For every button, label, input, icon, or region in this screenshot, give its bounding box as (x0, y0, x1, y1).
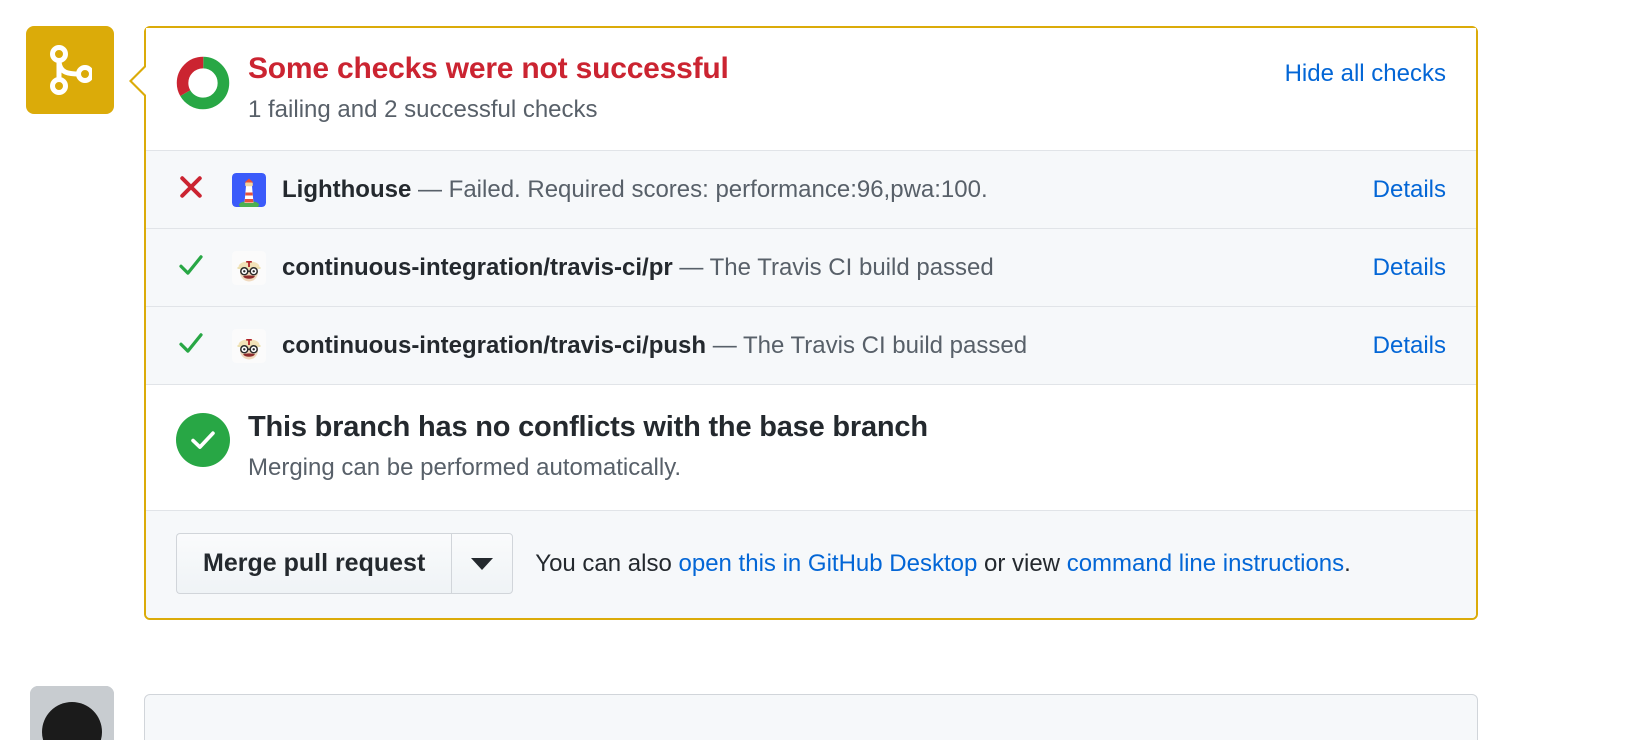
check-state-success (176, 250, 232, 285)
checks-status-text: Some checks were not successful 1 failin… (248, 52, 1265, 124)
check-state-failure (176, 172, 232, 207)
check-details-link[interactable]: Details (1373, 332, 1446, 360)
check-separator: — (706, 332, 743, 359)
check-description: Lighthouse — Failed. Required scores: pe… (282, 175, 1353, 205)
merge-button-group: Merge pull request (176, 533, 513, 594)
conflicts-text: This branch has no conflicts with the ba… (248, 411, 1446, 482)
merge-status-panel: Some checks were not successful 1 failin… (0, 0, 1644, 740)
open-in-github-desktop-link[interactable]: open this in GitHub Desktop (679, 550, 978, 577)
checks-progress-donut-icon (176, 56, 230, 110)
check-summary: Failed. Required scores: performance:96,… (449, 176, 988, 203)
travis-ci-avatar (232, 329, 266, 363)
merge-help-middle: or view (977, 550, 1066, 577)
check-separator: — (673, 254, 710, 281)
check-icon (176, 328, 206, 363)
merge-conflicts-status: This branch has no conflicts with the ba… (146, 385, 1476, 511)
check-name: Lighthouse (282, 176, 411, 203)
x-icon (176, 172, 206, 207)
chevron-down-icon (471, 558, 493, 570)
check-details-link[interactable]: Details (1373, 254, 1446, 282)
check-name: continuous-integration/travis-ci/pr (282, 254, 673, 281)
check-description: continuous-integration/travis-ci/pr — Th… (282, 253, 1353, 283)
merge-box: Some checks were not successful 1 failin… (144, 26, 1478, 620)
check-state-success (176, 328, 232, 363)
command-line-instructions-link[interactable]: command line instructions (1067, 550, 1344, 577)
travis-ci-avatar (232, 251, 266, 285)
lighthouse-avatar (232, 173, 266, 207)
check-summary: The Travis CI build passed (710, 254, 994, 281)
merge-actions-footer: Merge pull request You can also open thi… (146, 511, 1476, 618)
conflicts-title: This branch has no conflicts with the ba… (248, 411, 1446, 444)
next-comment-box (144, 694, 1478, 740)
merge-help-text: You can also open this in GitHub Desktop… (535, 549, 1351, 579)
check-description: continuous-integration/travis-ci/push — … (282, 331, 1353, 361)
checks-status-header: Some checks were not successful 1 failin… (146, 28, 1476, 151)
hide-all-checks-link[interactable]: Hide all checks (1285, 60, 1446, 88)
avatar[interactable] (30, 686, 114, 740)
conflicts-subtitle: Merging can be performed automatically. (248, 454, 1446, 483)
check-details-link[interactable]: Details (1373, 176, 1446, 204)
check-circle-icon (176, 413, 230, 467)
merge-help-prefix: You can also (535, 550, 678, 577)
merge-pull-request-button[interactable]: Merge pull request (176, 533, 451, 594)
checks-status-title: Some checks were not successful (248, 52, 1265, 87)
merge-method-dropdown-button[interactable] (451, 533, 513, 594)
table-row[interactable]: Lighthouse — Failed. Required scores: pe… (146, 151, 1476, 229)
check-icon (176, 250, 206, 285)
merge-help-suffix: . (1344, 550, 1351, 577)
check-separator: — (411, 176, 448, 203)
check-name: continuous-integration/travis-ci/push (282, 332, 706, 359)
git-merge-badge (26, 26, 114, 114)
table-row[interactable]: continuous-integration/travis-ci/push — … (146, 307, 1476, 385)
checks-status-subtitle: 1 failing and 2 successful checks (248, 96, 1265, 125)
check-summary: The Travis CI build passed (743, 332, 1027, 359)
git-merge-icon (48, 44, 92, 96)
table-row[interactable]: continuous-integration/travis-ci/pr — Th… (146, 229, 1476, 307)
